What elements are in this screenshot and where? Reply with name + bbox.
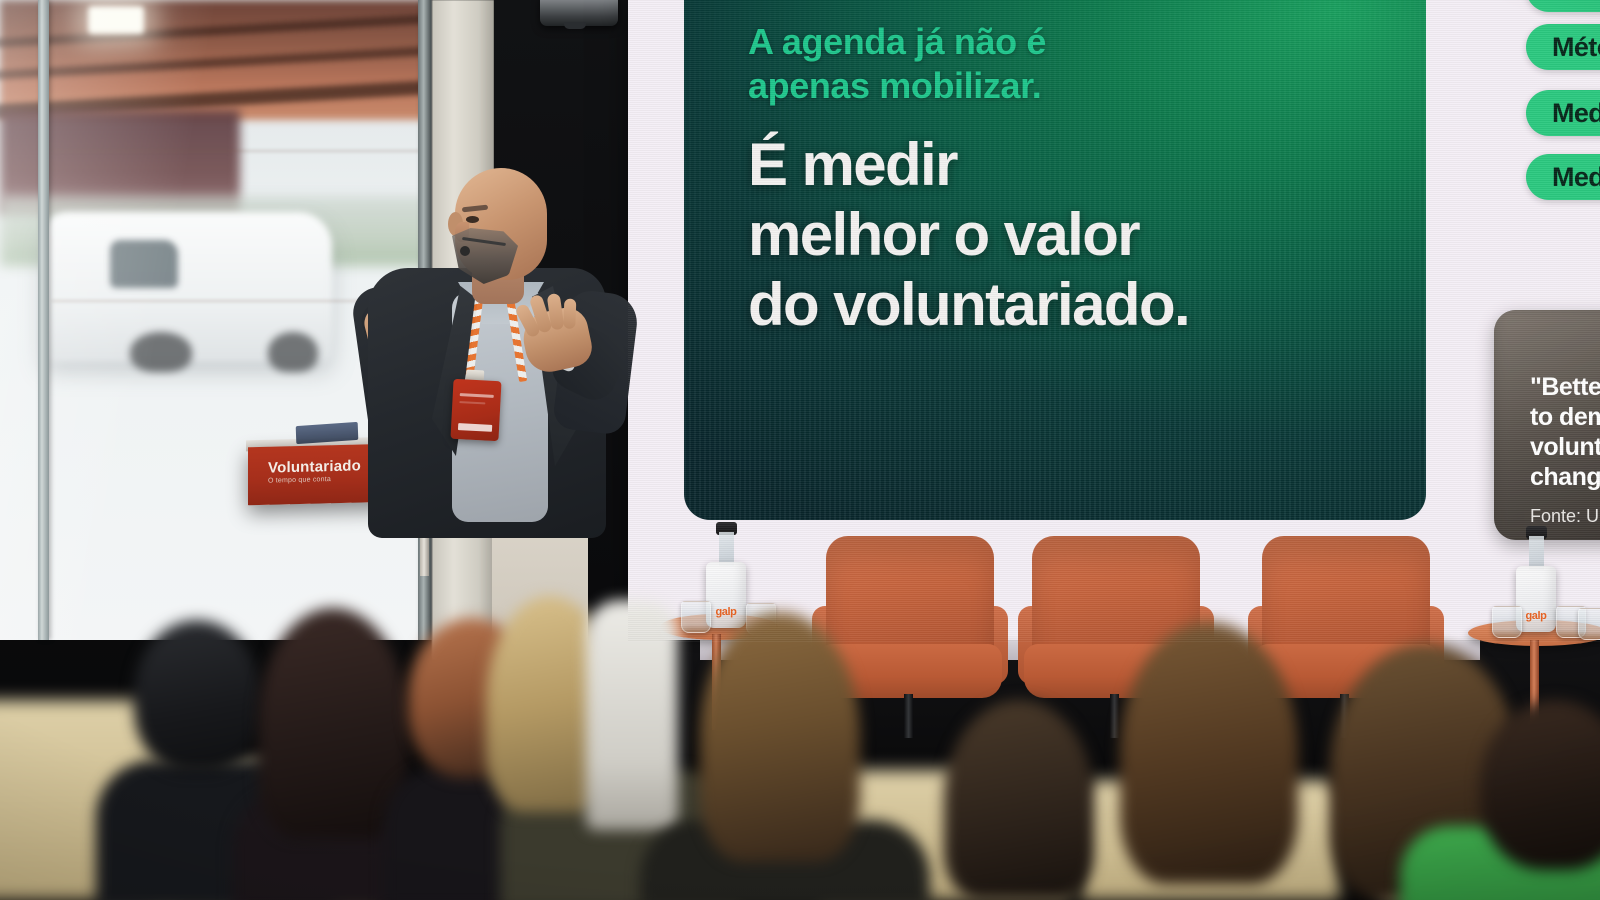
rail-pill-1: Méto xyxy=(1526,24,1600,70)
projector-device xyxy=(540,0,618,26)
slide-headline-line-1: É medir xyxy=(748,130,1388,200)
drinking-glass xyxy=(1578,608,1600,640)
slide-headline-line-2: melhor o valor xyxy=(748,200,1388,270)
chair-leg xyxy=(1110,694,1119,738)
slide-quote-card: "Better to dem volunte change Fonte: UNV xyxy=(1494,310,1600,540)
slide-headline-line-3: do voluntariado. xyxy=(748,270,1388,340)
van-wheel xyxy=(130,332,192,372)
slide-kicker-line-1: A agenda já não é xyxy=(748,21,1046,62)
slide-dark-card: A agenda já não é apenas mobilizar. É me… xyxy=(684,0,1426,520)
quote-source: Fonte: UNV xyxy=(1530,506,1600,527)
bottle-neck xyxy=(719,532,734,566)
quote-line-3: volunte xyxy=(1530,432,1600,462)
slide-kicker: A agenda já não é apenas mobilizar. xyxy=(748,20,1388,108)
van-wheel xyxy=(268,332,318,372)
quote-line-2: to dem xyxy=(1530,402,1600,432)
audience-head xyxy=(134,620,260,772)
slide-kicker-line-2: apenas mobilizar. xyxy=(748,65,1041,106)
rail-pill-2: Medi xyxy=(1526,90,1600,136)
audience-head xyxy=(258,608,408,838)
rail-pill-3: Medi xyxy=(1526,154,1600,200)
slide-text-block: A agenda já não é apenas mobilizar. É me… xyxy=(748,20,1388,340)
van-window xyxy=(110,240,178,288)
slide-right-rail: Mob Méto Medi Medi "Better to dem volunt… xyxy=(1434,0,1600,642)
quote-text: "Better to dem volunte change xyxy=(1530,372,1600,492)
photograph-canvas: A agenda já não é apenas mobilizar. É me… xyxy=(0,0,1600,900)
bottle-body: galp xyxy=(706,562,746,628)
drinking-glass xyxy=(681,601,711,633)
glass-reflection xyxy=(52,150,422,152)
audience-head xyxy=(700,612,860,862)
bottle-brand-label: galp xyxy=(1516,610,1556,622)
quote-line-4: change xyxy=(1530,462,1600,492)
speaker-eye xyxy=(466,216,479,223)
rail-pill-0: Mob xyxy=(1526,0,1600,12)
audience-attendee xyxy=(586,600,678,830)
ceiling-light-fixture xyxy=(88,6,144,34)
audience-head xyxy=(1120,622,1298,884)
speaker-name-badge xyxy=(450,379,501,441)
microphone-capsule xyxy=(460,246,470,256)
quote-line-1: "Better xyxy=(1530,372,1600,402)
audience-head xyxy=(944,700,1094,900)
bottle-brand-label: galp xyxy=(706,606,746,618)
bottle-neck xyxy=(1529,536,1544,570)
window-mullion xyxy=(38,0,49,640)
chair-leg xyxy=(904,694,913,738)
bottle-body: galp xyxy=(1516,566,1556,632)
drinking-glass xyxy=(1492,606,1522,638)
slide-headline: É medir melhor o valor do voluntariado. xyxy=(748,130,1388,341)
